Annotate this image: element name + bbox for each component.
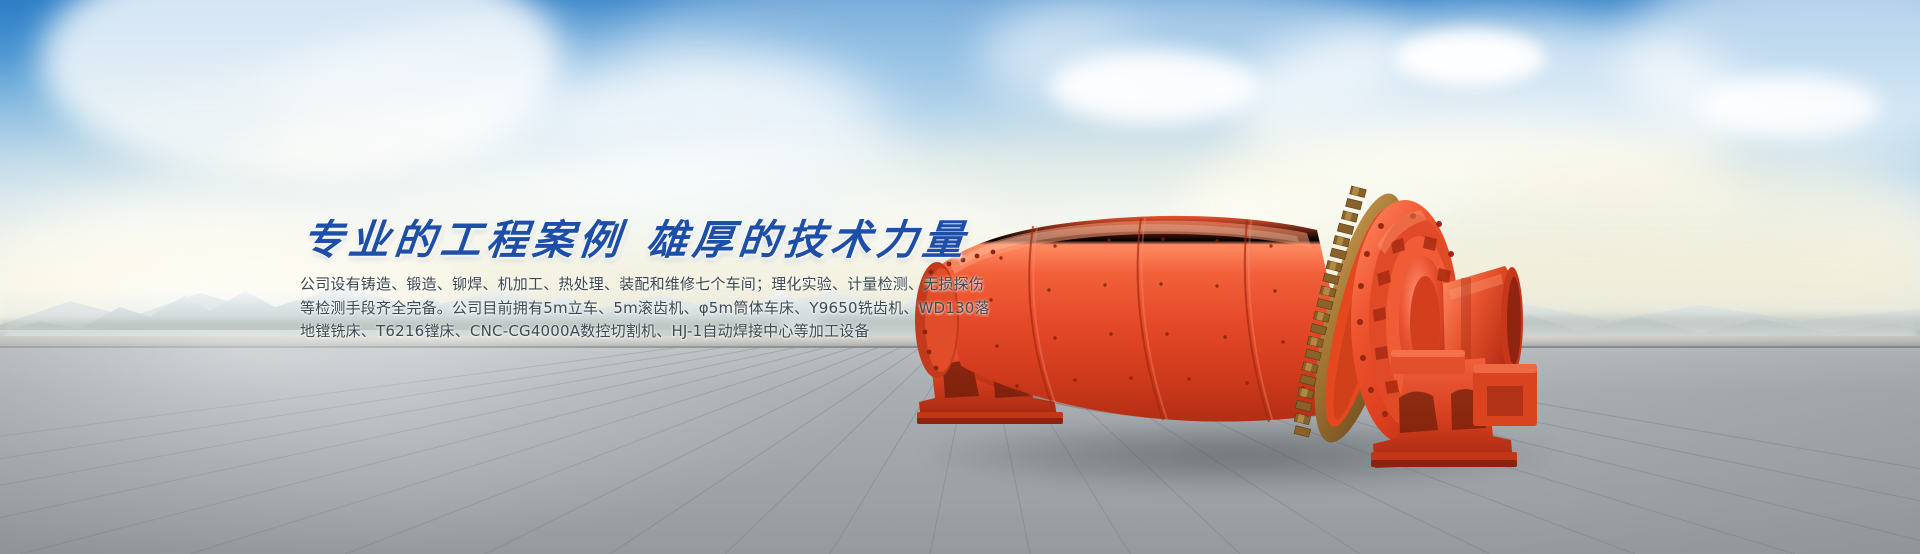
banner-description: 公司设有铸造、锻造、铆焊、机加工、热处理、装配和维修七个车间；理化实验、计量检测… [300, 273, 1060, 344]
cloud-shape [1700, 75, 1880, 137]
banner-copy: 专业的工程案例雄厚的技术力量 公司设有铸造、锻造、铆焊、机加工、热处理、装配和维… [300, 215, 1060, 344]
cloud-shape [1050, 50, 1260, 124]
description-line-2: 等检测手段齐全完备。公司目前拥有5m立车、5m滚齿机、φ5m筒体车床、Y9650… [300, 297, 1060, 321]
hero-banner: 专业的工程案例雄厚的技术力量 公司设有铸造、锻造、铆焊、机加工、热处理、装配和维… [0, 0, 1920, 554]
description-line-1: 公司设有铸造、锻造、铆焊、机加工、热处理、装配和维修七个车间；理化实验、计量检测… [300, 273, 1060, 297]
description-line-3: 地镗铣床、T6216镗床、CNC-CG4000A数控切割机、HJ-1自动焊接中心… [300, 320, 1060, 344]
headline-segment-1: 专业的工程案例 [300, 217, 627, 263]
page-title: 专业的工程案例雄厚的技术力量 [300, 215, 1065, 265]
cloud-shape [1395, 30, 1545, 86]
headline-segment-2: 雄厚的技术力量 [644, 217, 971, 263]
machine-drive-block [1473, 364, 1537, 426]
